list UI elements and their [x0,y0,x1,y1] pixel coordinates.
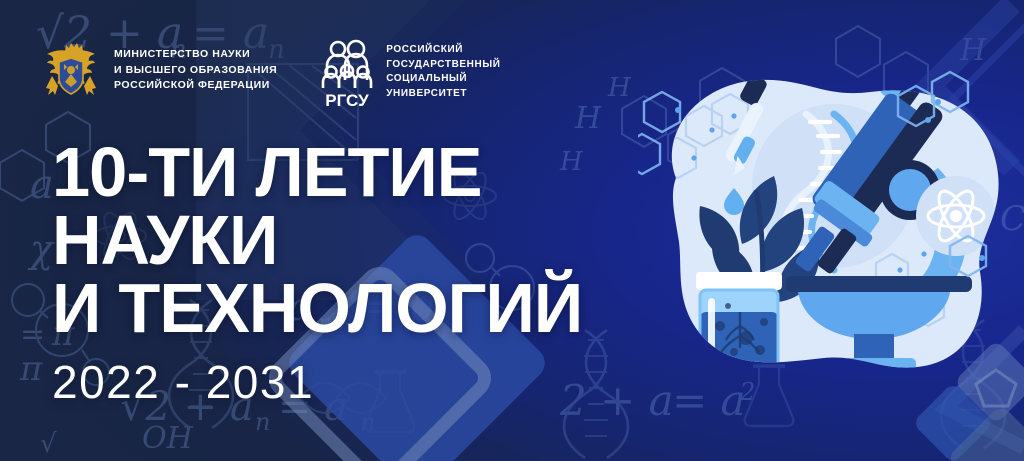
ministry-logo-block: МИНИСТЕРСТВО НАУКИ И ВЫСШЕГО ОБРАЗОВАНИЯ… [40,36,277,104]
ministry-line-3: РОССИЙСКОЙ ФЕДЕРАЦИИ [114,79,277,92]
rgsu-name: РОССИЙСКИЙ ГОСУДАРСТВЕННЫЙ СОЦИАЛЬНЫЙ УН… [386,38,500,100]
rgsu-logo-block: РГСУ РОССИЙСКИЙ ГОСУДАРСТВЕННЫЙ СОЦИАЛЬН… [319,36,500,110]
headline-years: 2022 - 2031 [52,356,593,408]
headline-line-3: И ТЕХНОЛОГИЙ [52,274,582,342]
rgsu-line-2: ГОСУДАРСТВЕННЫЙ [386,59,500,71]
banner-header: МИНИСТЕРСТВО НАУКИ И ВЫСШЕГО ОБРАЗОВАНИЯ… [40,36,501,110]
russian-coat-of-arms-icon [40,36,102,104]
science-decade-banner: √2 + a n = a n a n+1 = 0 n √2 + a n = a … [0,0,1024,461]
science-laboratory-illustration [638,58,1024,450]
ministry-line-1: МИНИСТЕРСТВО НАУКИ [114,48,277,61]
illustration-beaker [696,272,782,368]
ministry-name: МИНИСТЕРСТВО НАУКИ И ВЫСШЕГО ОБРАЗОВАНИЯ… [114,48,277,92]
headline-line-1: 10-ТИ ЛЕТИЕ [52,138,582,206]
rgsu-line-4: УНИВЕРСИТЕТ [386,88,500,100]
headline-line-2: НАУКИ [52,206,582,274]
rgsu-family-group-icon: РГСУ [319,38,375,110]
rgsu-line-1: РОССИЙСКИЙ [386,44,500,56]
ministry-line-2: И ВЫСШЕГО ОБРАЗОВАНИЯ [114,64,277,77]
rgsu-line-3: СОЦИАЛЬНЫЙ [386,73,500,85]
rgsu-abbreviation: РГСУ [326,91,370,110]
banner-headline: 10-ТИ ЛЕТИЕ НАУКИ И ТЕХНОЛОГИЙ 2022 - 20… [52,138,593,408]
